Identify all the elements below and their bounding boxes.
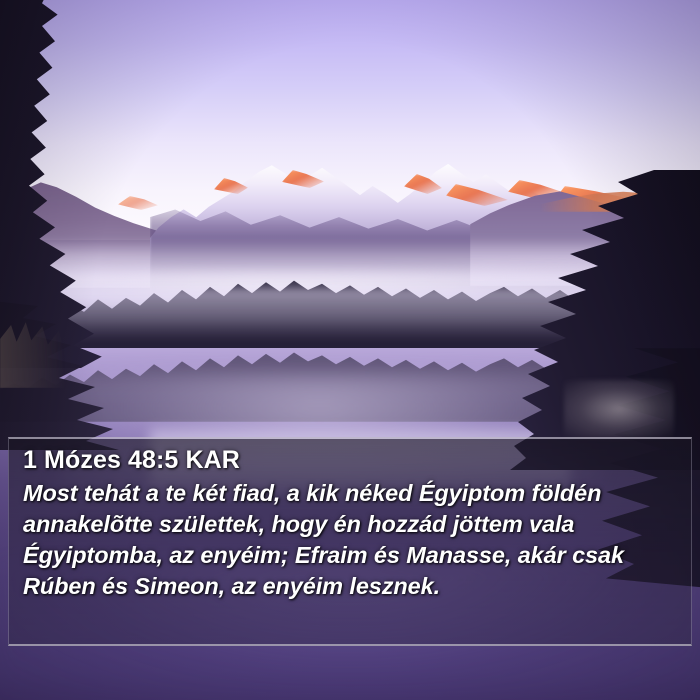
verse-text: Most tehát a te két fiad, a kik néked Ég… <box>23 478 677 602</box>
right-fern-highlight <box>564 380 674 438</box>
verse-image-card: 1 Mózes 48:5 KAR Most tehát a te két fia… <box>0 0 700 700</box>
verse-reference: 1 Mózes 48:5 KAR <box>23 445 677 475</box>
verse-overlay-panel: 1 Mózes 48:5 KAR Most tehát a te két fia… <box>8 437 692 646</box>
